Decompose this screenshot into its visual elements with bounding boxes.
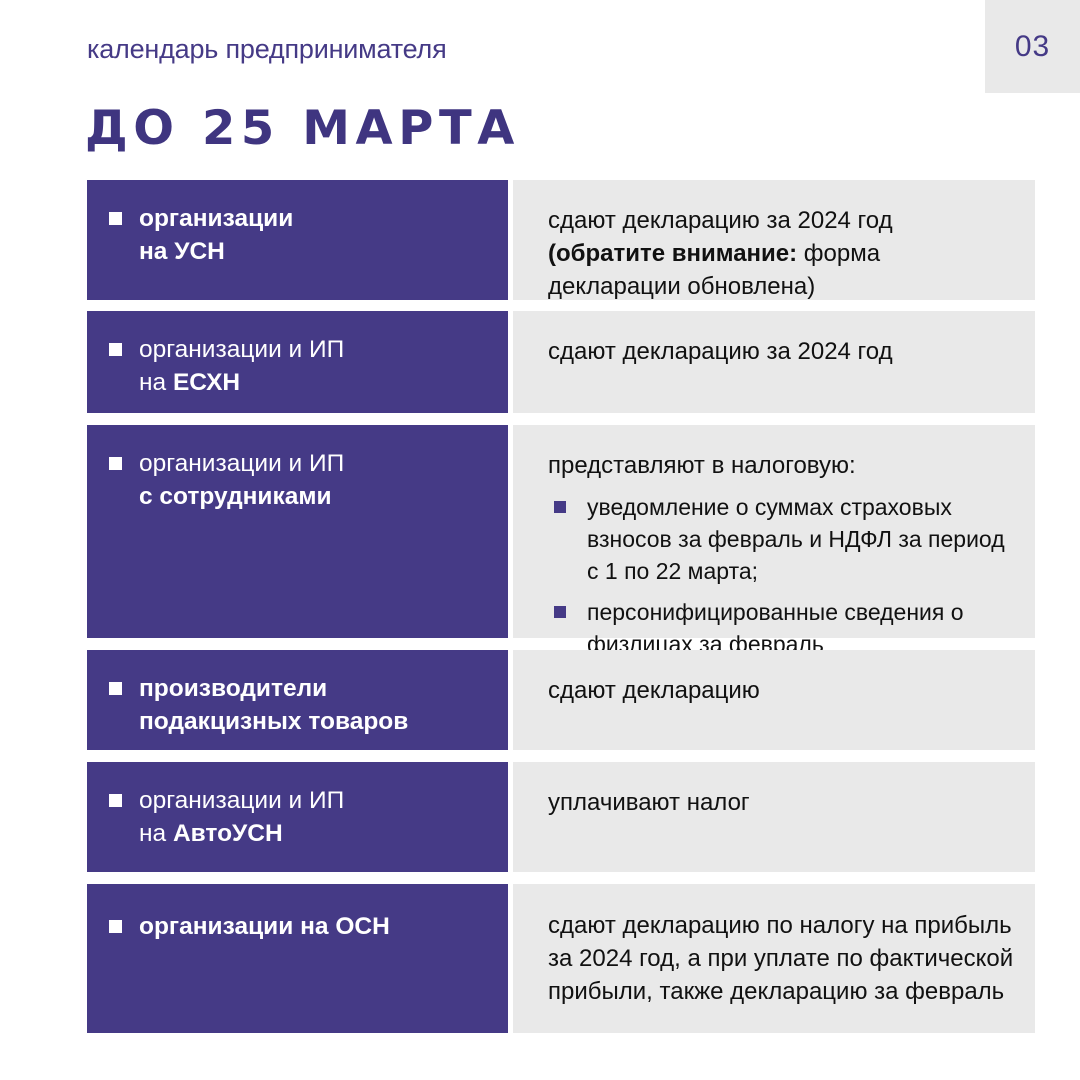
row-description-cell: сдают декларацию по налогу на прибыль за…	[513, 884, 1035, 1033]
row-category-prefix: на	[139, 820, 173, 847]
row-category-text: организации и ИП на ЕСХН	[109, 333, 488, 399]
row-description-text: сдают декларацию	[548, 674, 1017, 707]
row-category-prefix: на	[139, 369, 173, 396]
table-row: организации на ОСН сдают декларацию по н…	[0, 884, 1080, 1033]
row-category-text: организации и ИП с сотрудниками	[109, 447, 488, 513]
row-category-line1: производители	[139, 675, 327, 702]
desc-line-3: декларации обновлена)	[548, 273, 815, 300]
row-description-cell: уплачивают налог	[513, 762, 1035, 872]
row-description-text: сдают декларацию по налогу на прибыль за…	[548, 909, 1017, 1008]
row-category-line1: организации и ИП	[139, 336, 344, 363]
row-category-line1: организации и ИП	[139, 787, 344, 814]
deadline-table: организации на УСН сдают декларацию за 2…	[0, 0, 1080, 1080]
row-description-cell: представляют в налоговую: уведомление о …	[513, 425, 1035, 638]
row-category-line2: ЕСХН	[173, 369, 240, 396]
desc-line-1: сдают декларацию за 2024 год	[548, 207, 893, 234]
row-description-cell: сдают декларацию	[513, 650, 1035, 750]
row-category-cell: организации и ИП на АвтоУСН	[87, 762, 508, 872]
row-category-cell: организации и ИП на ЕСХН	[87, 311, 508, 413]
row-description-text: сдают декларацию за 2024 год (обратите в…	[548, 204, 1017, 303]
row-category-line1: организации и ИП	[139, 450, 344, 477]
row-description-cell: сдают декларацию за 2024 год (обратите в…	[513, 180, 1035, 300]
row-category-text: производители подакцизных товаров	[109, 672, 488, 738]
desc-emphasis: (обратите внимание:	[548, 240, 797, 267]
row-category-line2: с сотрудниками	[139, 483, 332, 510]
row-category-line1: организации на ОСН	[139, 913, 390, 940]
row-category-text: организации и ИП на АвтоУСН	[109, 784, 488, 850]
table-row: организации и ИП с сотрудниками представ…	[0, 425, 1080, 638]
table-row: организации и ИП на АвтоУСН уплачивают н…	[0, 762, 1080, 872]
row-category-cell: организации и ИП с сотрудниками	[87, 425, 508, 638]
row-description-text: представляют в налоговую:	[548, 449, 1017, 482]
row-category-line1: организации	[139, 205, 293, 232]
sub-bullet-list: уведомление о суммах страховых взносов з…	[548, 491, 1017, 660]
desc-tail: форма	[797, 240, 880, 267]
row-category-cell: производители подакцизных товаров	[87, 650, 508, 750]
table-row: производители подакцизных товаров сдают …	[0, 650, 1080, 750]
row-description-text: сдают декларацию за 2024 год	[548, 335, 1017, 368]
row-category-cell: организации на ОСН	[87, 884, 508, 1033]
row-category-text: организации на ОСН	[109, 910, 488, 943]
list-item: уведомление о суммах страховых взносов з…	[548, 491, 1017, 587]
row-category-cell: организации на УСН	[87, 180, 508, 300]
slide-page: 03 календарь предпринимателя ДО 25 МАРТА…	[0, 0, 1080, 1080]
row-category-line2: АвтоУСН	[173, 820, 283, 847]
table-row: организации и ИП на ЕСХН сдают деклараци…	[0, 311, 1080, 413]
row-description-cell: сдают декларацию за 2024 год	[513, 311, 1035, 413]
row-description-text: уплачивают налог	[548, 786, 1017, 819]
row-category-text: организации на УСН	[109, 202, 488, 268]
table-row: организации на УСН сдают декларацию за 2…	[0, 180, 1080, 300]
row-category-line2: подакцизных товаров	[139, 708, 408, 735]
row-category-line2: на УСН	[139, 238, 225, 265]
